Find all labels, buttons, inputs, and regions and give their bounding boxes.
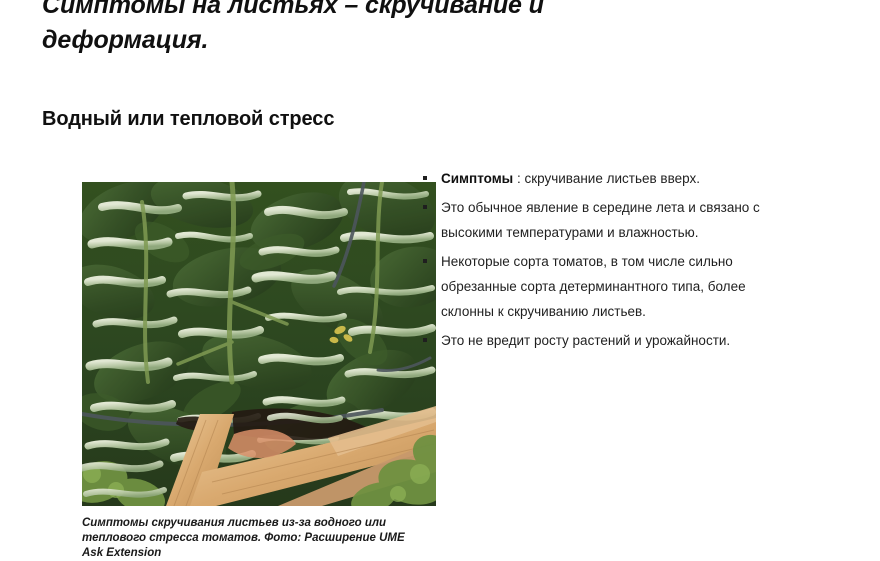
list-item: Симптомы : скручивание листьев вверх. [419, 166, 779, 191]
photo-curled-tomato-leaves [82, 182, 436, 506]
bullet-dot-icon [423, 338, 427, 342]
list-item: Это не вредит росту растений и урожайнос… [419, 328, 779, 353]
figure-caption: Симптомы скручивания листьев из-за водно… [82, 506, 422, 561]
bullet-dot-icon [423, 205, 427, 209]
article-page: Симптомы на листьях – скручивание и дефо… [0, 0, 880, 542]
list-item-text: Это обычное явление в середине лета и св… [441, 200, 760, 240]
list-item: Некоторые сорта томатов, в том числе сил… [419, 249, 779, 324]
figure-tomato-leaf-curl: Симптомы скручивания листьев из-за водно… [82, 182, 436, 561]
list-item-text: Некоторые сорта томатов, в том числе сил… [441, 254, 746, 319]
photo-illustration [82, 182, 436, 506]
symptom-list: Симптомы : скручивание листьев вверх. Эт… [419, 166, 779, 357]
page-title: Симптомы на листьях – скручивание и дефо… [42, 0, 662, 58]
list-item-lead: Симптомы [441, 171, 513, 186]
section-heading: Водный или тепловой стресс [42, 105, 334, 133]
list-item-text: Это не вредит росту растений и урожайнос… [441, 333, 730, 348]
list-item: Это обычное явление в середине лета и св… [419, 195, 779, 245]
bullet-dot-icon [423, 176, 427, 180]
bullet-dot-icon [423, 259, 427, 263]
list-item-text: : скручивание листьев вверх. [513, 171, 700, 186]
